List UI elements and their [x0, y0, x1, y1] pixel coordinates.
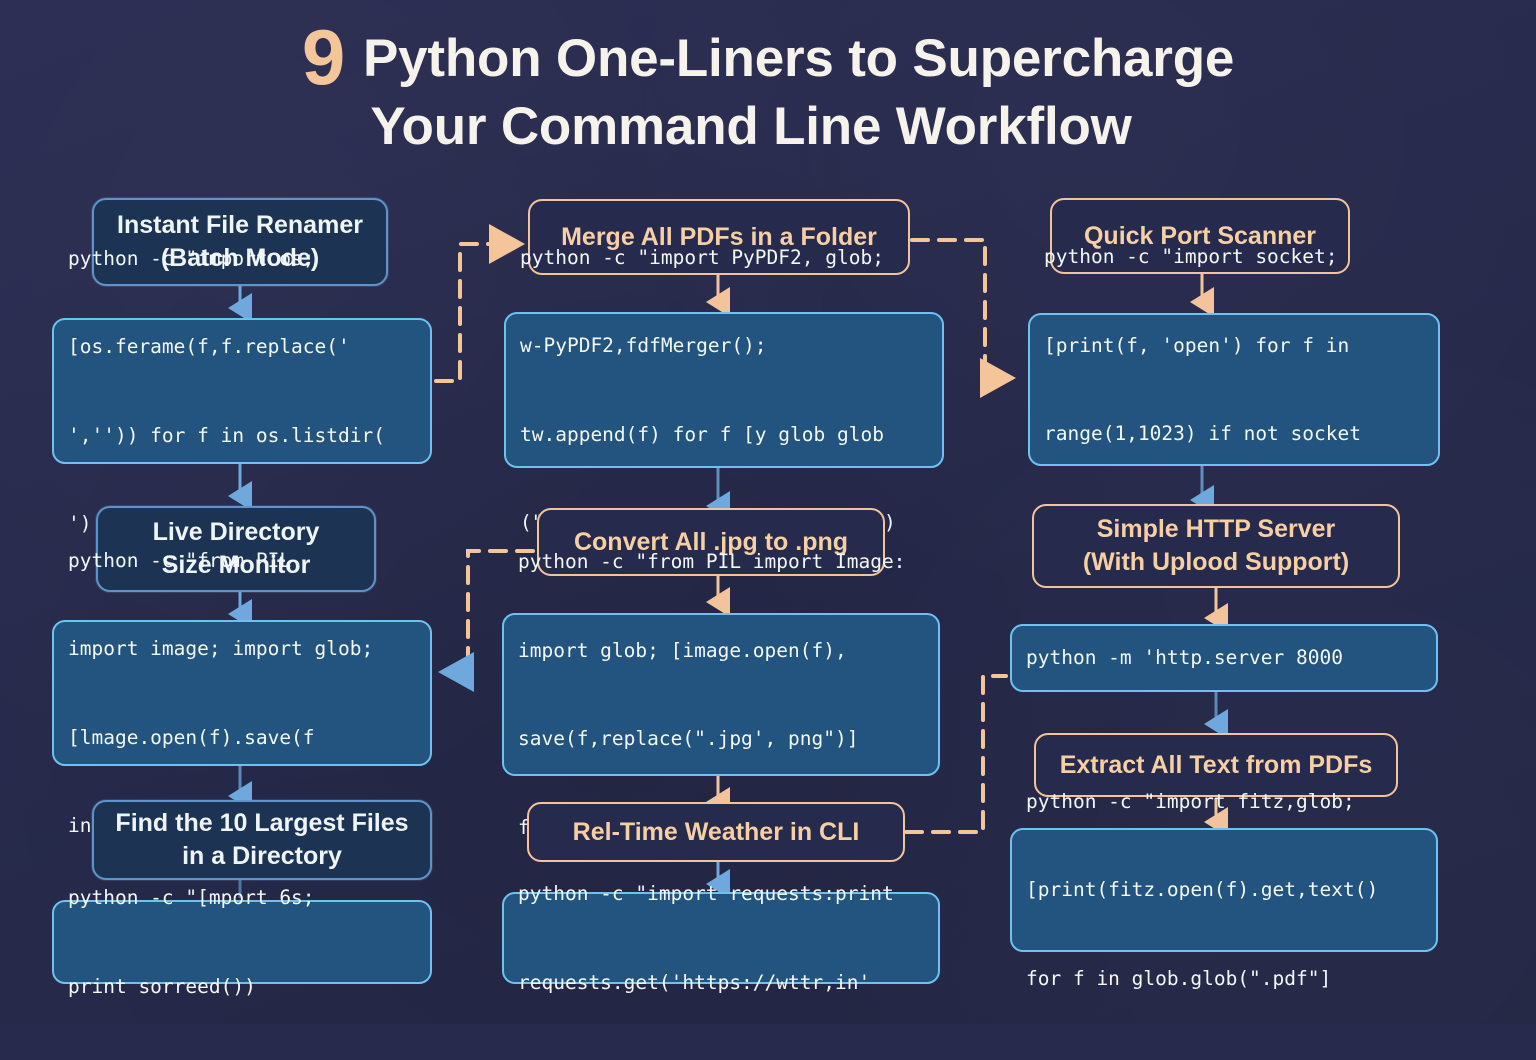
code-merge-all-pdfs[interactable]: python -c "import PyPDF2, glob; w-PyPDF2… [504, 312, 944, 468]
code-line: python -c "from PIL [68, 546, 373, 576]
code-simple-http-server[interactable]: python -m 'http.server 8000 [1010, 624, 1438, 692]
code-line: w-PyPDF2,fdfMerger(); [520, 331, 896, 361]
code-line: import image; import glob; [68, 634, 373, 664]
code-line: python -c "import requests:print [518, 879, 894, 909]
code-line: save(f,replace(".jpg', png")] [518, 724, 905, 754]
code-line: requests.get('https://wttr,in' [518, 968, 894, 998]
headline-number: 9 [302, 26, 345, 88]
code-line: python -c "import fitz,glob; [1026, 787, 1378, 817]
node-title-line: Simple HTTP Server [1083, 513, 1349, 546]
code-instant-file-renamer[interactable]: python -c "import os; [os.ferame(f,f.rep… [52, 318, 432, 464]
code-line: [lmage.open(f).save(f [68, 723, 373, 753]
code-line: import glob; [image.open(f), [518, 636, 905, 666]
code-line: python -c "import os; [68, 244, 385, 274]
code-line: ','')) for f in os.listdir( [68, 421, 385, 451]
headline-line-1: Python One-Liners to Supercharge [363, 29, 1234, 88]
code-line: [print(fitz.open(f).get,text() [1026, 875, 1378, 905]
code-live-directory-size-monitor[interactable]: python -c "from PIL import image; import… [52, 620, 432, 766]
code-line: python -c "import PyPDF2, glob; [520, 243, 896, 273]
code-quick-port-scanner[interactable]: python -c "import socket; [print(f, 'ope… [1028, 313, 1440, 466]
code-line: [os.ferame(f,f.replace(' [68, 332, 385, 362]
code-find-10-largest-files[interactable]: python -c "[mport 6s; print sorreed()) [52, 900, 432, 984]
code-line: range(1,1023) if not socket [1044, 419, 1384, 449]
code-extract-all-text-from-pdfs[interactable]: python -c "import fitz,glob; [print(fitz… [1010, 828, 1438, 952]
code-line: print sorreed()) [68, 972, 315, 1002]
code-real-time-weather-in-cli[interactable]: python -c "import requests:print request… [502, 892, 940, 984]
code-line: for f in glob.glob(".pdf"] [1026, 964, 1378, 994]
code-line: python -m 'http.server 8000 [1026, 643, 1343, 673]
node-title-line: (With Uplood Support) [1083, 546, 1349, 579]
code-line: python -c "from PIL import Image: [518, 547, 905, 577]
code-line: [print(f, 'open') for f in [1044, 331, 1384, 361]
code-convert-all-jpg-to-png[interactable]: python -c "from PIL import Image: import… [502, 613, 940, 776]
code-line: python -c "import socket; [1044, 242, 1384, 272]
code-line: python -c "[mport 6s; [68, 883, 315, 913]
page-title: 9Python One-Liners to Supercharge Your C… [0, 26, 1536, 158]
node-simple-http-server[interactable]: Simple HTTP Server (With Uplood Support) [1032, 504, 1400, 588]
code-line: tw.append(f) for f [y glob glob [520, 420, 896, 450]
headline-line-2: Your Command Line Workflow [0, 96, 1536, 158]
